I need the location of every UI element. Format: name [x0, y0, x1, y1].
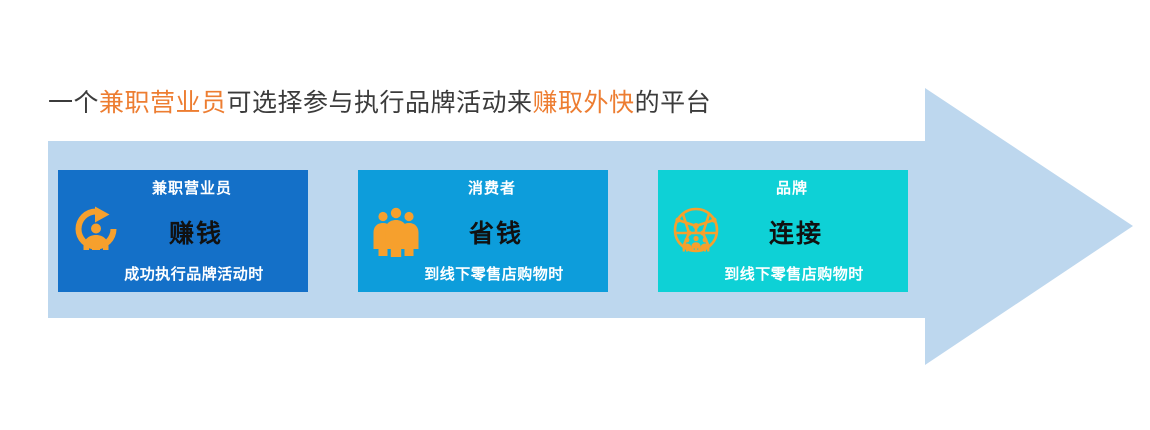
card-brand[interactable]: 品牌 连接 到线下零售店购物时 — [658, 170, 908, 292]
card-main-label: 赚钱 — [58, 214, 308, 250]
card-header-label: 兼职营业员 — [58, 177, 308, 198]
card-main-label: 省钱 — [358, 214, 608, 250]
card-footer-label: 成功执行品牌活动时 — [58, 263, 308, 284]
title-segment-3: 可选择参与执行品牌活动来 — [227, 88, 533, 117]
card-row: 兼职营业员 赚钱 成功执行品牌活动时 消费者 省钱 到线下 — [58, 170, 908, 292]
page-title: 一个兼职营业员可选择参与执行品牌活动来赚取外快的平台 — [48, 86, 711, 120]
card-header-label: 品牌 — [658, 177, 908, 198]
title-segment-5: 的平台 — [635, 88, 712, 117]
card-footer-label: 到线下零售店购物时 — [358, 263, 608, 284]
card-consumer[interactable]: 消费者 省钱 到线下零售店购物时 — [358, 170, 608, 292]
card-main-label: 连接 — [658, 214, 908, 250]
title-segment-1: 一个 — [48, 88, 99, 117]
card-footer-label: 到线下零售店购物时 — [658, 263, 908, 284]
card-header-label: 消费者 — [358, 177, 608, 198]
title-segment-2-highlight: 兼职营业员 — [99, 88, 227, 117]
card-part-time-staff[interactable]: 兼职营业员 赚钱 成功执行品牌活动时 — [58, 170, 308, 292]
title-segment-4-highlight: 赚取外快 — [533, 88, 635, 117]
